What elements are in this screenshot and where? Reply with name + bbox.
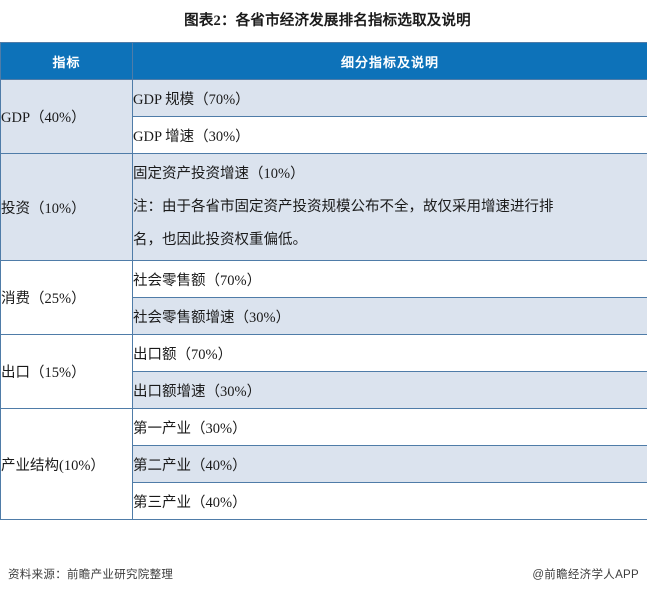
category-cell-gdp: GDP（40%） bbox=[1, 80, 133, 154]
table-row: 出口（15%） 出口额（70%） bbox=[1, 335, 647, 372]
table-row: 产业结构(10%） 第一产业（30%） bbox=[1, 409, 647, 446]
sub-indicator-cell: 出口额（70%） bbox=[133, 335, 647, 372]
category-cell-export: 出口（15%） bbox=[1, 335, 133, 409]
table-header-row: 指标 细分指标及说明 bbox=[1, 43, 647, 80]
category-cell-industry-structure: 产业结构(10%） bbox=[1, 409, 133, 520]
table-header: 指标 细分指标及说明 bbox=[1, 43, 647, 80]
sub-indicator-cell: 第三产业（40%） bbox=[133, 483, 647, 520]
sub-indicator-cell: 社会零售额增速（30%） bbox=[133, 298, 647, 335]
app-attribution-label: @前瞻经济学人APP bbox=[532, 566, 639, 582]
sub-indicator-cell: 第一产业（30%） bbox=[133, 409, 647, 446]
source-label: 资料来源：前瞻产业研究院整理 bbox=[8, 566, 173, 582]
sub-indicator-cell: GDP 增速（30%） bbox=[133, 117, 647, 154]
sub-indicator-cell: GDP 规模（70%） bbox=[133, 80, 647, 117]
sub-indicator-note-line: 名，也因此投资权重偏低。 bbox=[133, 224, 647, 257]
sub-indicator-line: 固定资产投资增速（10%） bbox=[133, 158, 647, 191]
indicator-table: 指标 细分指标及说明 GDP（40%） GDP 规模（70%） GDP 增速（3… bbox=[0, 42, 647, 520]
category-cell-consumption: 消费（25%） bbox=[1, 261, 133, 335]
column-header-indicator: 指标 bbox=[1, 43, 133, 80]
table-row: GDP（40%） GDP 规模（70%） bbox=[1, 80, 647, 117]
table-row: 投资（10%） 固定资产投资增速（10%） 注：由于各省市固定资产投资规模公布不… bbox=[1, 154, 647, 261]
footer: 资料来源：前瞻产业研究院整理 @前瞻经济学人APP bbox=[0, 540, 647, 594]
sub-indicator-cell: 出口额增速（30%） bbox=[133, 372, 647, 409]
sub-indicator-note-line: 注：由于各省市固定资产投资规模公布不全，故仅采用增速进行排 bbox=[133, 191, 647, 224]
table-container: 业研究院 8395991 业研究院 8395991 业研究院 8395991 业… bbox=[0, 42, 647, 540]
sub-indicator-cell: 第二产业（40%） bbox=[133, 446, 647, 483]
column-header-sub-indicator: 细分指标及说明 bbox=[133, 43, 647, 80]
sub-indicator-cell: 社会零售额（70%） bbox=[133, 261, 647, 298]
category-cell-investment: 投资（10%） bbox=[1, 154, 133, 261]
table-body: GDP（40%） GDP 规模（70%） GDP 增速（30%） 投资（10%）… bbox=[1, 80, 647, 520]
sub-indicator-cell: 固定资产投资增速（10%） 注：由于各省市固定资产投资规模公布不全，故仅采用增速… bbox=[133, 154, 647, 261]
table-row: 消费（25%） 社会零售额（70%） bbox=[1, 261, 647, 298]
page-title: 图表2：各省市经济发展排名指标选取及说明 bbox=[0, 0, 647, 42]
